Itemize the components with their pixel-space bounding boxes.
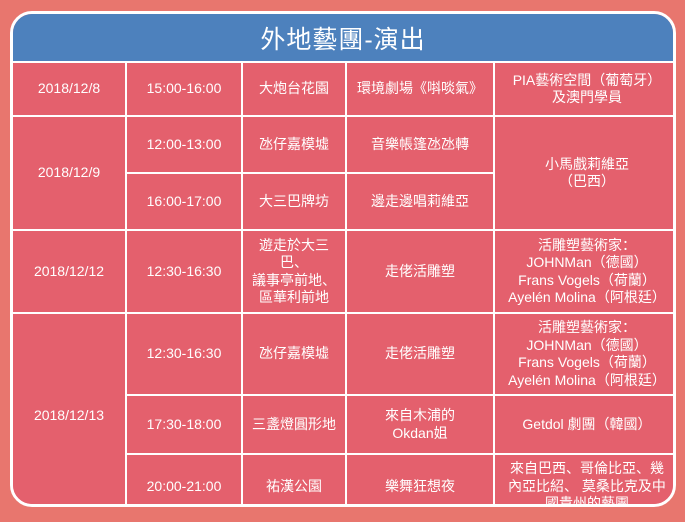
cell-program: 音樂帳篷氹氹轉 [346, 116, 494, 173]
artist-line: 活雕塑藝術家： [498, 319, 676, 337]
artist-line: 內亞比紹、 莫桑比克及中 [498, 478, 676, 496]
artist-line: Frans Vogels（荷蘭） [498, 272, 676, 290]
cell-artist: 活雕塑藝術家： JOHNMan（德國） Frans Vogels（荷蘭） Aye… [494, 230, 676, 313]
artist-line: JOHNMan（德國） [498, 254, 676, 272]
venue-line: 議事亭前地、 [246, 272, 342, 290]
table-row: 2018/12/13 12:30-16:30 氹仔嘉模墟 走佬活雕塑 活雕塑藝術… [13, 313, 676, 395]
cell-venue: 大炮台花園 [242, 62, 346, 116]
cell-date: 2018/12/8 [13, 62, 126, 116]
artist-line: Getdol 劇團（韓國） [498, 416, 676, 434]
cell-program: 邊走邊唱莉維亞 [346, 173, 494, 230]
cell-program: 走佬活雕塑 [346, 230, 494, 313]
cell-venue: 氹仔嘉模墟 [242, 313, 346, 395]
venue-line: 區華利前地 [246, 289, 342, 307]
cell-venue: 遊走於大三巴、 議事亭前地、 區華利前地 [242, 230, 346, 313]
cell-venue: 大三巴牌坊 [242, 173, 346, 230]
schedule-title-bar: 外地藝團-演出 [13, 14, 673, 61]
artist-line: 活雕塑藝術家： [498, 237, 676, 255]
cell-program: 樂舞狂想夜 [346, 454, 494, 507]
table-row: 2018/12/12 12:30-16:30 遊走於大三巴、 議事亭前地、 區華… [13, 230, 676, 313]
cell-date: 2018/12/13 [13, 313, 126, 507]
cell-date: 2018/12/12 [13, 230, 126, 313]
artist-line: Frans Vogels（荷蘭） [498, 354, 676, 372]
artist-line: 及澳門學員 [498, 89, 676, 107]
cell-time: 16:00-17:00 [126, 173, 242, 230]
table-row: 2018/12/9 12:00-13:00 氹仔嘉模墟 音樂帳篷氹氹轉 小馬戲莉… [13, 116, 676, 173]
table-row: 2018/12/8 15:00-16:00 大炮台花園 環境劇場《唞啖氣》 PI… [13, 62, 676, 116]
cell-time: 12:30-16:30 [126, 230, 242, 313]
cell-artist: 活雕塑藝術家： JOHNMan（德國） Frans Vogels（荷蘭） Aye… [494, 313, 676, 395]
cell-program: 來自木浦的 Okdan姐 [346, 395, 494, 454]
cell-venue: 祐漢公園 [242, 454, 346, 507]
cell-date: 2018/12/9 [13, 116, 126, 230]
cell-program: 走佬活雕塑 [346, 313, 494, 395]
cell-time: 12:00-13:00 [126, 116, 242, 173]
program-line: Okdan姐 [350, 425, 490, 443]
cell-artist: 來自巴西、哥倫比亞、幾 內亞比紹、 莫桑比克及中 國貴州的藝團 [494, 454, 676, 507]
cell-time: 20:00-21:00 [126, 454, 242, 507]
artist-line: JOHNMan（德國） [498, 337, 676, 355]
artist-line: Ayelén Molina（阿根廷） [498, 289, 676, 307]
artist-line: （巴西） [498, 173, 676, 191]
page-title: 外地藝團-演出 [260, 20, 425, 56]
cell-artist: PIA藝術空間（葡萄牙） 及澳門學員 [494, 62, 676, 116]
cell-venue: 三盞燈圓形地 [242, 395, 346, 454]
venue-line: 遊走於大三巴、 [246, 237, 342, 272]
artist-line: 小馬戲莉維亞 [498, 156, 676, 174]
cell-time: 15:00-16:00 [126, 62, 242, 116]
artist-line: Ayelén Molina（阿根廷） [498, 372, 676, 390]
cell-venue: 氹仔嘉模墟 [242, 116, 346, 173]
schedule-table: 2018/12/8 15:00-16:00 大炮台花園 環境劇場《唞啖氣》 PI… [13, 61, 676, 507]
cell-artist: Getdol 劇團（韓國） [494, 395, 676, 454]
cell-artist: 小馬戲莉維亞 （巴西） [494, 116, 676, 230]
program-line: 來自木浦的 [350, 407, 490, 425]
schedule-card: 外地藝團-演出 2018/12/8 15:00-16:00 大炮台花園 環境劇場… [10, 11, 676, 507]
artist-line: 國貴州的藝團 [498, 495, 676, 507]
artist-line: PIA藝術空間（葡萄牙） [498, 72, 676, 90]
poster-container: 外地藝團-演出 2018/12/8 15:00-16:00 大炮台花園 環境劇場… [0, 0, 685, 522]
artist-line: 來自巴西、哥倫比亞、幾 [498, 460, 676, 478]
cell-time: 12:30-16:30 [126, 313, 242, 395]
cell-program: 環境劇場《唞啖氣》 [346, 62, 494, 116]
cell-time: 17:30-18:00 [126, 395, 242, 454]
